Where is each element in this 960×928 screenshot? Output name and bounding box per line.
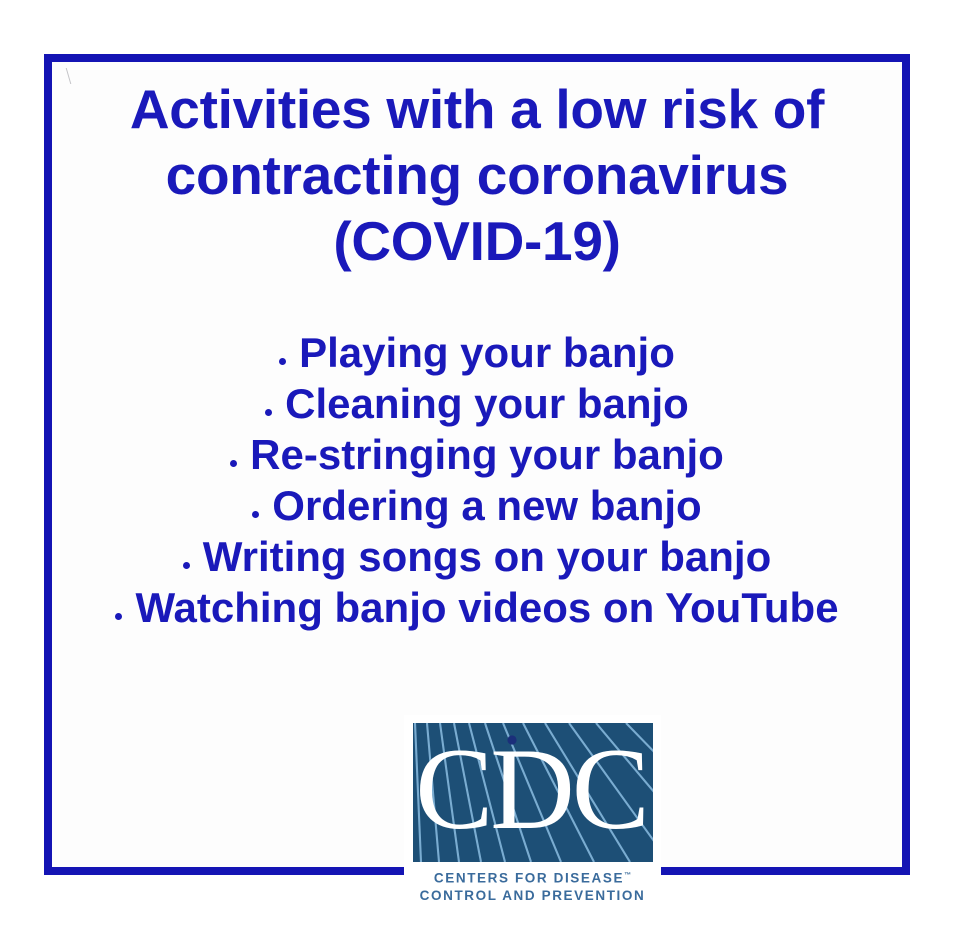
list-item: Writing songs on your banjo [52, 531, 902, 582]
activity-list: Playing your banjo Cleaning your banjo R… [52, 327, 902, 633]
page-title-line-1: Activities with a low risk of [52, 76, 902, 142]
cdc-tagline: CENTERS FOR DISEASE™ CONTROL AND PREVENT… [404, 867, 661, 904]
page-title-line-2: contracting coronavirus [52, 142, 902, 208]
bullet-dot-icon [115, 613, 122, 620]
cdc-tagline-line-1: CENTERS FOR DISEASE™ [404, 867, 661, 887]
bullet-dot-icon [230, 460, 237, 467]
poster-canvas: Activities with a low risk of contractin… [0, 0, 960, 928]
svg-text:CDC: CDC [415, 725, 647, 854]
list-item: Playing your banjo [52, 327, 902, 378]
list-item-label: Watching banjo videos on YouTube [135, 584, 838, 631]
list-item-label: Playing your banjo [299, 329, 675, 376]
bullet-dot-icon [279, 358, 286, 365]
list-item-label: Ordering a new banjo [272, 482, 701, 529]
list-item-label: Re-stringing your banjo [250, 431, 724, 478]
bullet-dot-icon [265, 409, 272, 416]
list-item-label: Cleaning your banjo [285, 380, 689, 427]
page-title: Activities with a low risk of contractin… [52, 76, 902, 274]
cdc-logo: CDC CENTERS FOR DISEASE™ CONTROL AND PRE… [404, 715, 661, 917]
list-item: Watching banjo videos on YouTube [52, 582, 902, 633]
poster-border-frame: Activities with a low risk of contractin… [44, 54, 910, 875]
bullet-dot-icon [183, 562, 190, 569]
bullet-dot-icon [252, 511, 259, 518]
trademark-icon: ™ [624, 872, 631, 879]
list-item: Re-stringing your banjo [52, 429, 902, 480]
list-item-label: Writing songs on your banjo [203, 533, 772, 580]
cdc-logo-mark: CDC [413, 723, 653, 862]
list-item: Ordering a new banjo [52, 480, 902, 531]
list-item: Cleaning your banjo [52, 378, 902, 429]
cdc-tagline-line-2: CONTROL AND PREVENTION [404, 887, 661, 904]
cdc-monogram-graphic: CDC [413, 723, 653, 862]
cdc-tagline-text-1: CENTERS FOR DISEASE [434, 871, 624, 886]
page-title-line-3: (COVID-19) [52, 208, 902, 274]
